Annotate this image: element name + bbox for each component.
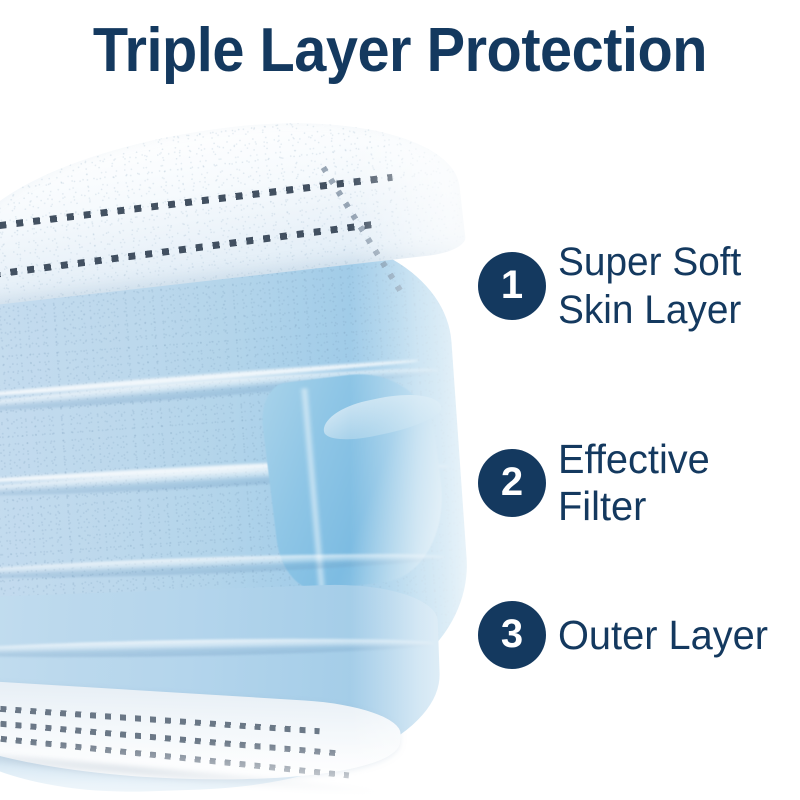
feature-label-3: Outer Layer — [558, 612, 768, 659]
feature-number-badge-3: 3 — [478, 601, 546, 669]
mask-illustration — [0, 120, 490, 800]
feature-number-badge-1: 1 — [478, 252, 546, 320]
product-photo-face-mask — [0, 120, 490, 800]
infographic-canvas: Triple Layer Protection — [0, 0, 800, 800]
feature-item-2: 2 Effective Filter — [478, 436, 800, 530]
feature-label-1: Super Soft Skin Layer — [558, 238, 741, 334]
feature-label-2: Effective Filter — [558, 436, 793, 530]
feature-item-1: 1 Super Soft Skin Layer — [478, 238, 747, 334]
feature-item-3: 3 Outer Layer — [478, 601, 775, 669]
page-title: Triple Layer Protection — [28, 18, 772, 84]
feature-number-badge-2: 2 — [478, 449, 546, 517]
